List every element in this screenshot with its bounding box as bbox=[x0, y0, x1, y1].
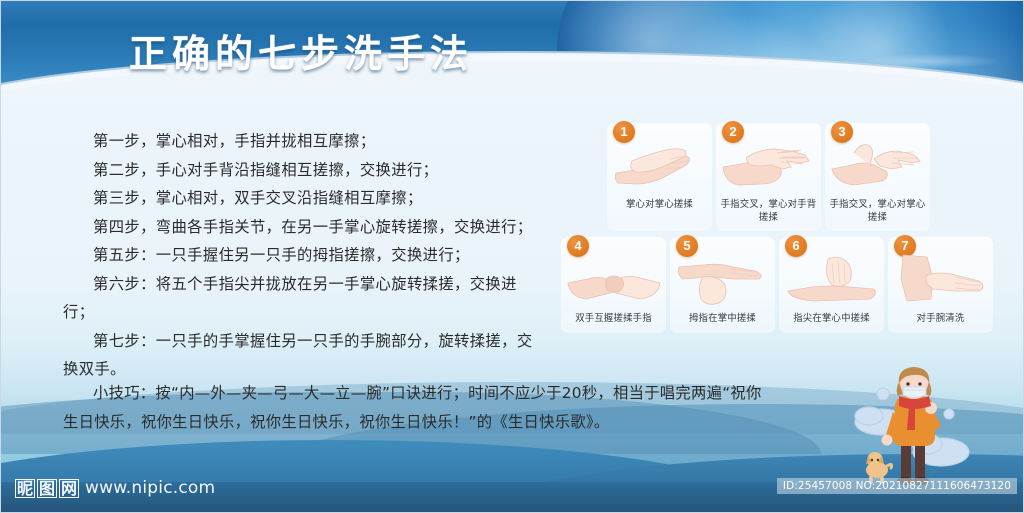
step-card-3[interactable]: 3 手指交叉，掌心对掌心搓揉 bbox=[825, 123, 930, 231]
step-caption: 拇指在掌中搓揉 bbox=[674, 313, 771, 326]
logo-char: 昵 bbox=[15, 479, 35, 498]
step-caption: 指尖在掌心中搓揉 bbox=[783, 313, 880, 326]
asset-id-badge: ID:25457008 NO:20210827111606473120 bbox=[777, 478, 1017, 494]
step-row-one: 1 掌心对掌心搓揉 2 bbox=[561, 123, 1011, 231]
step-caption: 双手互握搓揉手指 bbox=[565, 313, 662, 326]
cartoon-person-with-mask-and-dog-icon bbox=[853, 364, 973, 492]
instruction-line: 第二步，手心对手背沿指缝相互搓擦，交换进行； bbox=[63, 156, 533, 185]
step-card-2[interactable]: 2 手指交叉，掌心对手背搓揉 bbox=[716, 123, 821, 231]
step-card-5[interactable]: 5 拇指在掌中搓揉 bbox=[670, 237, 775, 333]
instruction-line: 第一步，掌心相对，手指并拢相互摩擦； bbox=[63, 127, 533, 156]
logo-char: 网 bbox=[59, 479, 79, 498]
step-card-6[interactable]: 6 指尖在掌心中搓揉 bbox=[779, 237, 884, 333]
instruction-line: 第七步：一只手的手掌握住另一只手的手腕部分，旋转揉搓，交换双手。 bbox=[63, 327, 533, 384]
step-card-1[interactable]: 1 掌心对掌心搓揉 bbox=[607, 123, 712, 231]
step-caption: 手指交叉，掌心对手背搓揉 bbox=[720, 199, 817, 224]
step-row-two: 4 双手互握搓揉手指 5 bbox=[561, 237, 1011, 333]
step-caption: 手指交叉，掌心对掌心搓揉 bbox=[829, 199, 926, 224]
step-card-7[interactable]: 7 对手腕清洗 bbox=[888, 237, 993, 333]
hands-palm-to-palm-icon bbox=[612, 139, 708, 195]
hand-fingertips-palm-icon bbox=[784, 253, 880, 309]
tip-paragraph: 小技巧：按“内—外—夹—弓—大—立—腕”口诀进行；时间不应少于20秒，相当于唱完… bbox=[63, 379, 763, 437]
hand-thumb-rotate-icon bbox=[675, 253, 771, 309]
hand-wrist-wash-icon bbox=[893, 253, 989, 309]
page-title: 正确的七步洗手法 bbox=[129, 23, 473, 78]
hands-interlocked-fingers-icon bbox=[566, 253, 662, 309]
instruction-line: 第三步，掌心相对，双手交叉沿指缝相互摩擦； bbox=[63, 184, 533, 213]
step-card-4[interactable]: 4 双手互握搓揉手指 bbox=[561, 237, 666, 333]
watermark-url: www.nipic.com bbox=[85, 478, 215, 498]
logo-char: 图 bbox=[37, 479, 57, 498]
step-caption: 掌心对掌心搓揉 bbox=[611, 199, 708, 212]
instruction-line: 第四步，弯曲各手指关节，在另一手掌心旋转搓擦，交换进行； bbox=[63, 213, 533, 242]
instruction-line: 第六步：将五个手指尖并拢放在另一手掌心旋转揉搓，交换进行； bbox=[63, 270, 533, 327]
hands-fingers-interlaced-icon bbox=[830, 139, 926, 195]
instructions-block: 第一步，掌心相对，手指并拢相互摩擦； 第二步，手心对手背沿指缝相互搓擦，交换进行… bbox=[63, 127, 533, 384]
hands-palm-over-back-icon bbox=[721, 139, 817, 195]
tip-block: 小技巧：按“内—外—夹—弓—大—立—腕”口诀进行；时间不应少于20秒，相当于唱完… bbox=[63, 379, 763, 437]
nipic-logo-icon: 昵 图 网 bbox=[15, 479, 79, 498]
step-image-grid: 1 掌心对掌心搓揉 2 bbox=[561, 123, 1011, 333]
instruction-line: 第五步：一只手握住另一只手的拇指搓擦，交换进行； bbox=[63, 241, 533, 270]
site-watermark: 昵 图 网 www.nipic.com bbox=[15, 478, 215, 498]
step-caption: 对手腕清洗 bbox=[892, 313, 989, 326]
poster-canvas: 正确的七步洗手法 第一步，掌心相对，手指并拢相互摩擦； 第二步，手心对手背沿指缝… bbox=[0, 0, 1024, 513]
